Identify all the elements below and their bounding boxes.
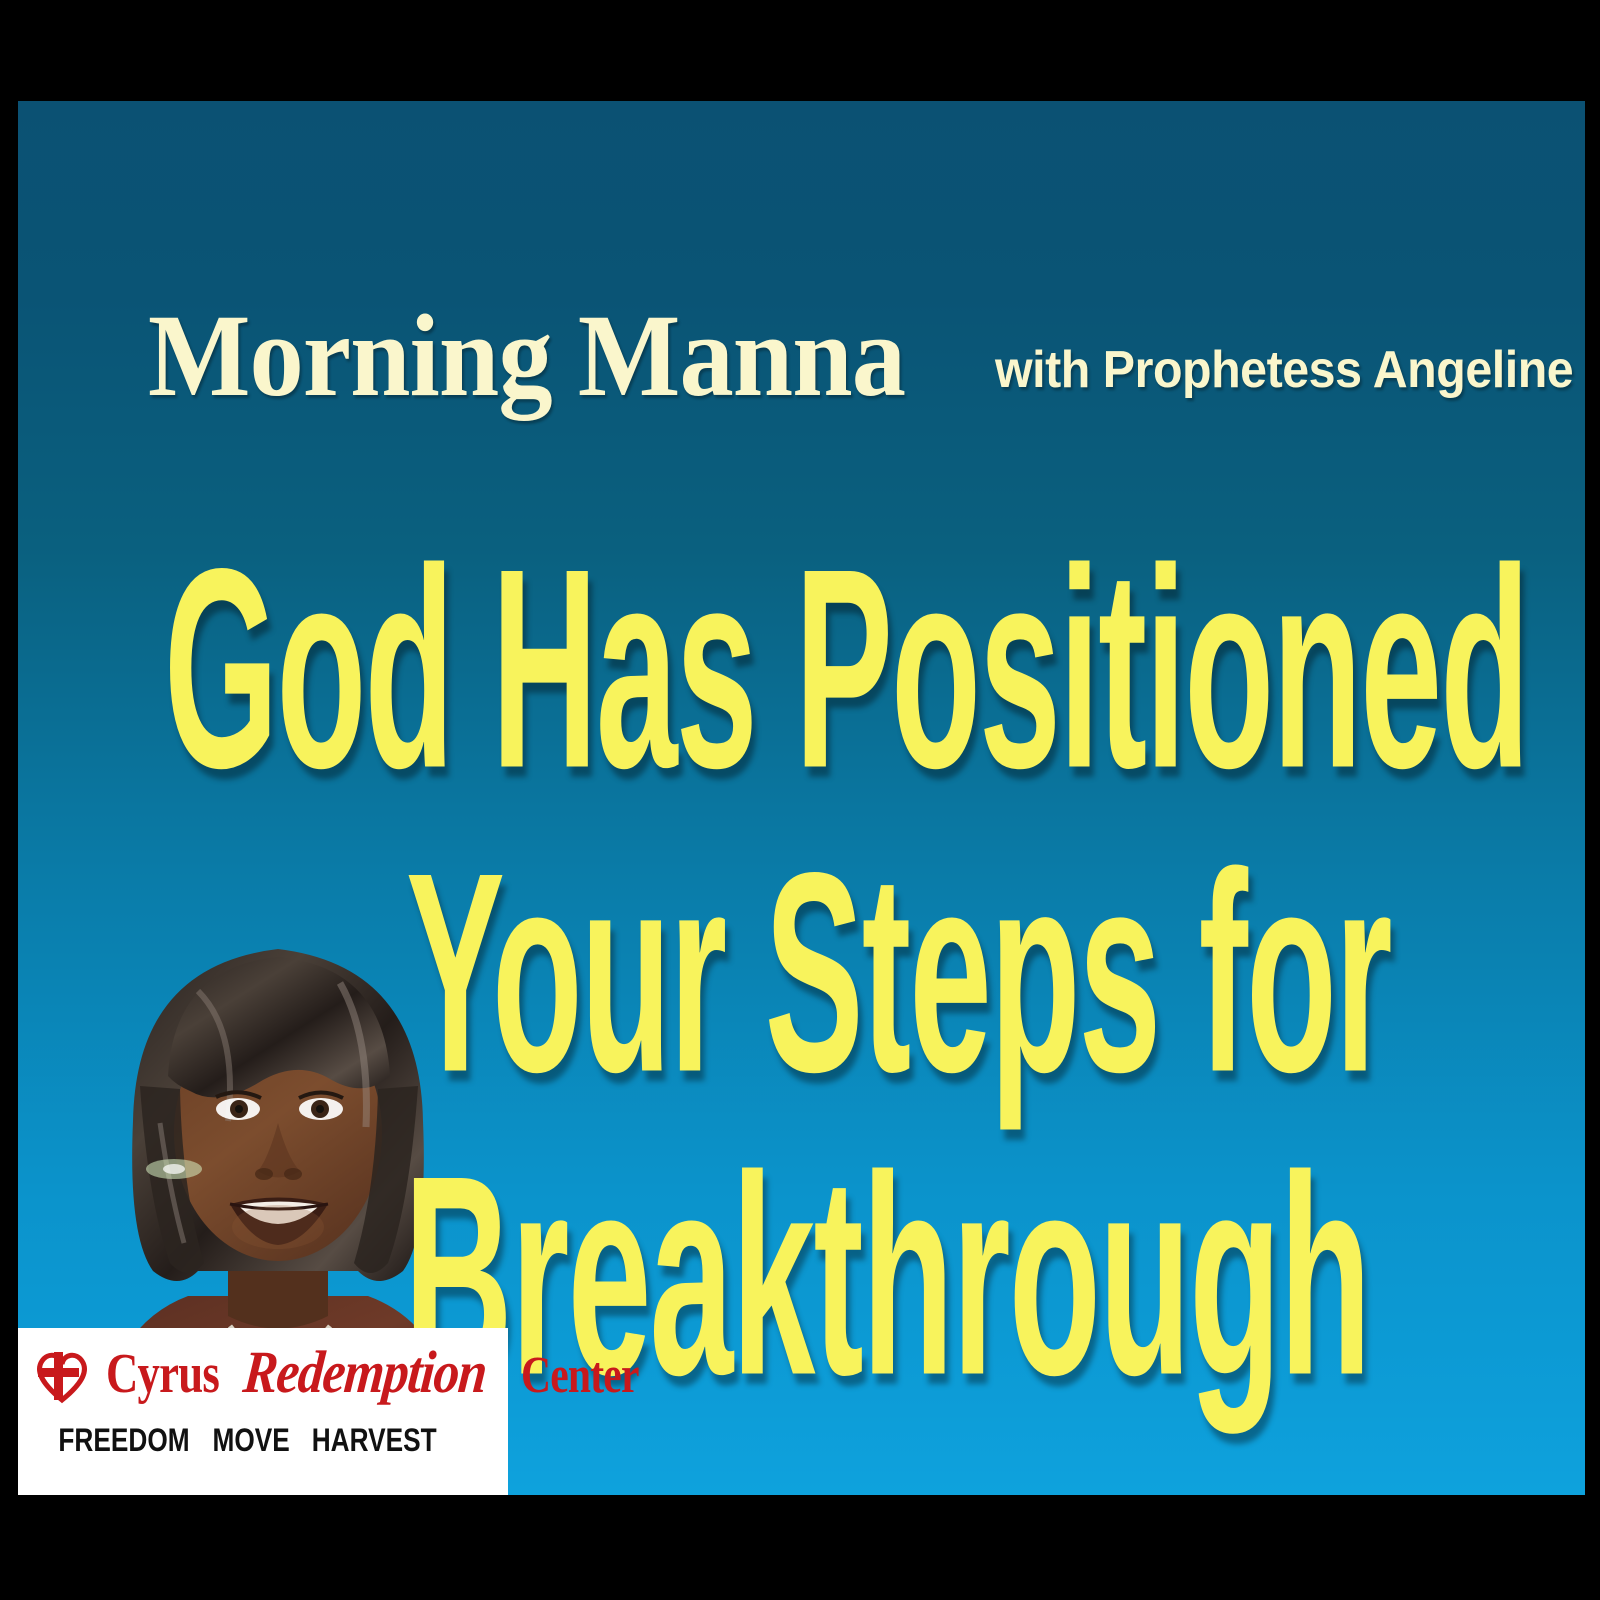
slide-canvas: Morning Mannawith Prophetess Angeline <box>0 0 1600 1600</box>
church-logo-wordmark: CyrusRedemptionCenter <box>34 1342 496 1420</box>
logo-taglines: FREEDOM MOVE HARVEST <box>44 1424 484 1456</box>
logo-word-cyrus: Cyrus <box>106 1346 219 1402</box>
tagline-move: MOVE <box>212 1424 289 1456</box>
tagline-harvest: HARVEST <box>312 1424 437 1456</box>
page-title: God Has Positioned Your Steps for Breakt… <box>164 531 1484 1376</box>
logo-word-center: Center <box>521 1350 639 1402</box>
headline-line-1: God Has Positioned <box>164 531 956 807</box>
headline-line-2: Your Steps for <box>164 835 963 1111</box>
logo-word-redemption: Redemption <box>241 1342 489 1402</box>
tagline-freedom: FREEDOM <box>58 1424 189 1456</box>
slide-header: Morning Mannawith Prophetess Angeline <box>148 297 1508 417</box>
brand-subtitle: with Prophetess Angeline <box>995 344 1573 396</box>
brand-title: Morning Manna <box>148 297 905 415</box>
slide-background: Morning Mannawith Prophetess Angeline <box>18 101 1585 1495</box>
church-logo-card: CyrusRedemptionCenter FREEDOM MOVE HARVE… <box>18 1328 508 1495</box>
